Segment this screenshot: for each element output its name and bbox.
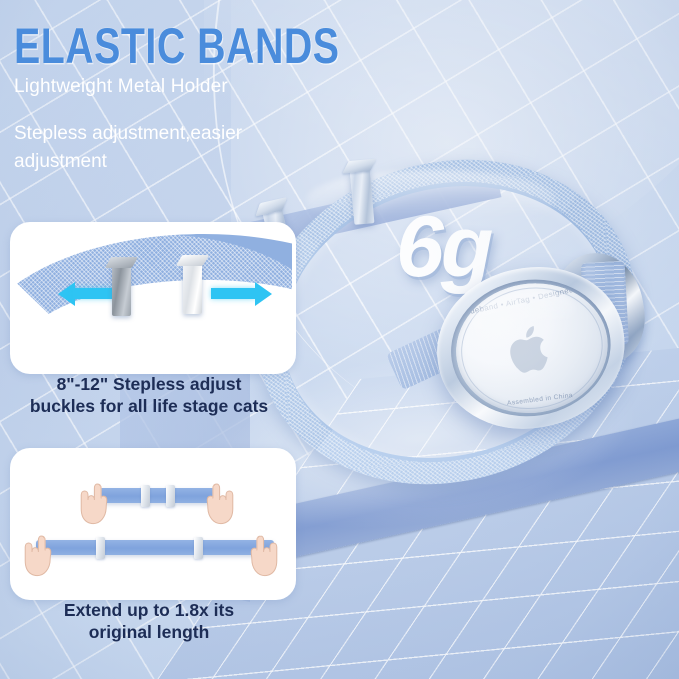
hand-bottom-left-icon — [20, 534, 56, 586]
feature-card-1-artwork — [14, 226, 292, 370]
stretched-band-buckle-2 — [194, 537, 203, 559]
illustration-buckle-left — [112, 264, 131, 316]
feature-caption-stepless-adjust: 8"-12" Stepless adjust buckles for all l… — [4, 373, 294, 417]
stretched-band-illustration — [36, 540, 274, 555]
illustration-buckle-right — [183, 262, 202, 314]
feature-card-extend-length — [10, 448, 296, 600]
unstretched-band-illustration — [96, 488, 218, 503]
arrow-left-shaft — [73, 288, 117, 299]
feature-caption-2-line-1: Extend up to 1.8x its — [4, 599, 294, 621]
unstretched-band-buckle-1 — [141, 485, 150, 507]
hand-top-left-icon — [76, 482, 112, 534]
feature-card-stepless-adjust — [10, 222, 296, 374]
product-marketing-image: 6g Ultra Wideband • AirTag • Designed by… — [0, 0, 679, 679]
page-headline: ELASTIC BANDS — [14, 18, 340, 75]
arrow-right-shaft — [211, 288, 255, 299]
feature-caption-1-line-1: 8"-12" Stepless adjust — [4, 373, 294, 395]
hand-top-right-icon — [202, 482, 238, 534]
page-tagline: Stepless adjustment,easier adjustment — [14, 120, 314, 175]
unstretched-band-buckle-2 — [166, 485, 175, 507]
feature-caption-extend-length: Extend up to 1.8x its original length — [4, 599, 294, 643]
curved-band-illustration — [14, 230, 292, 370]
arrow-right-head — [255, 282, 272, 306]
feature-caption-2-line-2: original length — [4, 621, 294, 643]
feature-card-2-artwork — [14, 452, 292, 596]
hand-bottom-right-icon — [246, 534, 282, 586]
stretched-band-buckle-1 — [96, 537, 105, 559]
feature-caption-1-line-2: buckles for all life stage cats — [4, 395, 294, 417]
page-subheadline: Lightweight Metal Holder — [14, 76, 228, 98]
